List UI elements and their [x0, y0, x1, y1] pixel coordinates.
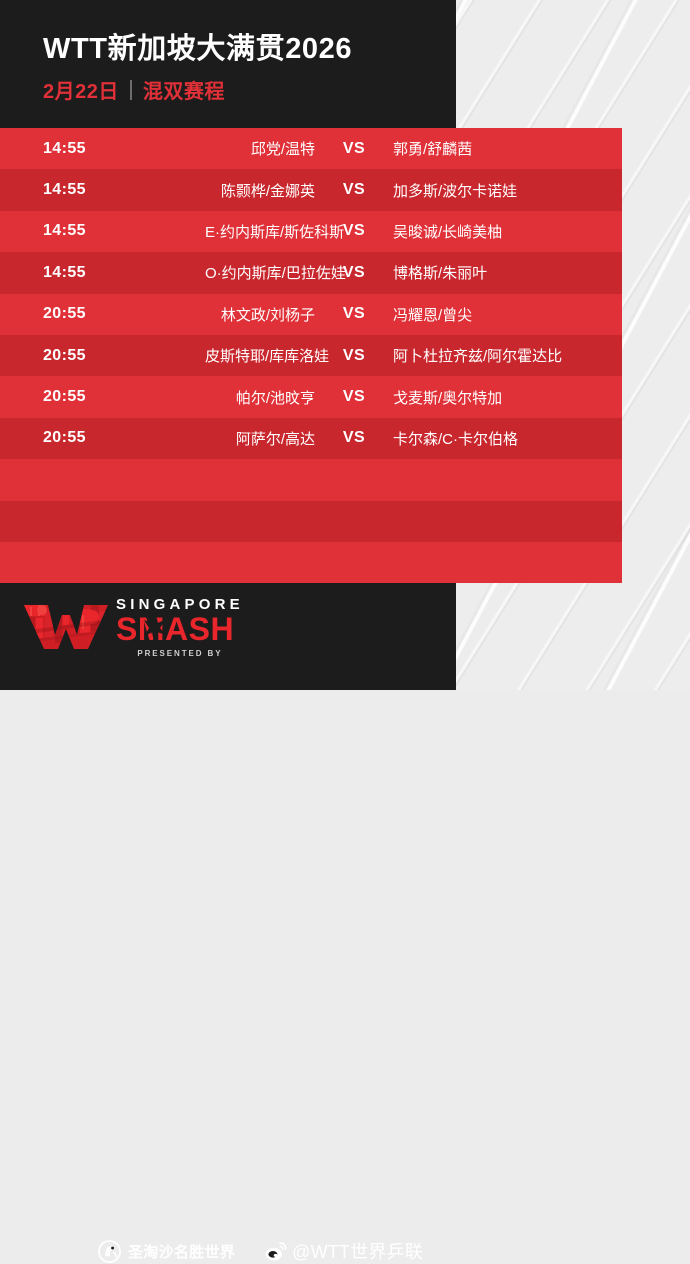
- match-time: 14:55: [0, 264, 205, 282]
- weibo-account-block[interactable]: @WTT世界乒联: [265, 1238, 423, 1264]
- subtitle-divider: [130, 80, 132, 100]
- match-time: 20:55: [0, 347, 205, 365]
- match-row[interactable]: 14:55E·约内斯库/斯佐科斯VS吴晙诚/长崎美柚: [0, 211, 622, 252]
- team-left: E·约内斯库/斯佐科斯: [205, 221, 315, 242]
- match-time: 20:55: [0, 429, 205, 447]
- team-right: 加多斯/波尔卡诺娃: [393, 180, 622, 201]
- weibo-icon[interactable]: [265, 1242, 287, 1261]
- event-date: 2月22日: [43, 75, 119, 104]
- team-right: 阿卜杜拉齐兹/阿尔霍达比: [393, 345, 622, 366]
- vs-label: VS: [315, 222, 393, 240]
- wtt-w-mark-icon: [22, 601, 110, 653]
- team-right: 冯耀恩/曾尖: [393, 304, 622, 325]
- team-right: 博格斯/朱丽叶: [393, 262, 622, 283]
- match-row[interactable]: 20:55皮斯特耶/库库洛娃VS阿卜杜拉齐兹/阿尔霍达比: [0, 335, 622, 376]
- team-right: 戈麦斯/奥尔特加: [393, 387, 622, 408]
- vs-label: VS: [315, 388, 393, 406]
- team-right: 卡尔森/C·卡尔伯格: [393, 428, 622, 449]
- sponsor-row: 圣淘沙名胜世界 @WTT世界乒联: [98, 1238, 423, 1264]
- empty-row: [0, 501, 622, 542]
- team-left: 林文政/刘杨子: [205, 304, 315, 325]
- smash-word-text: SMASH: [116, 611, 234, 647]
- team-left: 陈颢桦/金娜英: [205, 180, 315, 201]
- footer-branding-bar: SINGAPORE SMASH PRESENTED BY 圣淘沙名胜世界: [0, 583, 456, 690]
- team-left: 阿萨尔/高达: [205, 428, 315, 449]
- header-banner: WTT新加坡大满贯2026 2月22日 混双赛程: [0, 0, 456, 128]
- match-time: 14:55: [0, 181, 205, 199]
- page-title: WTT新加坡大满贯2026: [43, 34, 456, 64]
- match-row[interactable]: 20:55帕尔/池旼亨VS戈麦斯/奥尔特加: [0, 376, 622, 417]
- vs-label: VS: [315, 347, 393, 365]
- vs-label: VS: [315, 305, 393, 323]
- sponsor-name: 圣淘沙名胜世界: [128, 1241, 235, 1262]
- team-left: 皮斯特耶/库库洛娃: [205, 345, 315, 366]
- smash-word: SMASH: [116, 613, 234, 645]
- match-time: 14:55: [0, 140, 205, 158]
- team-left: 邱党/温特: [205, 138, 315, 159]
- match-row[interactable]: 14:55陈颢桦/金娜英VS加多斯/波尔卡诺娃: [0, 169, 622, 210]
- rws-roundel-icon: [98, 1240, 121, 1263]
- vs-label: VS: [315, 140, 393, 158]
- empty-row: [0, 542, 622, 583]
- singapore-smash-logo: SINGAPORE SMASH PRESENTED BY: [22, 591, 244, 658]
- vs-label: VS: [315, 181, 393, 199]
- match-row[interactable]: 14:55O·约内斯库/巴拉佐娃VS博格斯/朱丽叶: [0, 252, 622, 293]
- match-row[interactable]: 14:55邱党/温特VS郭勇/舒麟茜: [0, 128, 622, 169]
- vs-label: VS: [315, 264, 393, 282]
- match-time: 20:55: [0, 305, 205, 323]
- team-right: 郭勇/舒麟茜: [393, 138, 622, 159]
- match-time: 20:55: [0, 388, 205, 406]
- resorts-world-sentosa-logo: 圣淘沙名胜世界: [98, 1240, 235, 1263]
- match-row[interactable]: 20:55阿萨尔/高达VS卡尔森/C·卡尔伯格: [0, 418, 622, 459]
- vs-label: VS: [315, 429, 393, 447]
- team-left: O·约内斯库/巴拉佐娃: [205, 262, 315, 283]
- team-left: 帕尔/池旼亨: [205, 387, 315, 408]
- team-right: 吴晙诚/长崎美柚: [393, 221, 622, 242]
- subtitle-row: 2月22日 混双赛程: [43, 75, 456, 104]
- match-time: 14:55: [0, 222, 205, 240]
- singapore-word: SINGAPORE: [116, 597, 244, 612]
- event-category: 混双赛程: [143, 75, 225, 104]
- empty-row: [0, 459, 622, 500]
- smash-wordmark-block: SINGAPORE SMASH PRESENTED BY: [116, 591, 244, 658]
- match-row[interactable]: 20:55林文政/刘杨子VS冯耀恩/曾尖: [0, 294, 622, 335]
- match-schedule-panel: 14:55邱党/温特VS郭勇/舒麟茜14:55陈颢桦/金娜英VS加多斯/波尔卡诺…: [0, 128, 622, 583]
- weibo-handle[interactable]: @WTT世界乒联: [292, 1238, 423, 1264]
- presented-by-label: PRESENTED BY: [116, 649, 244, 658]
